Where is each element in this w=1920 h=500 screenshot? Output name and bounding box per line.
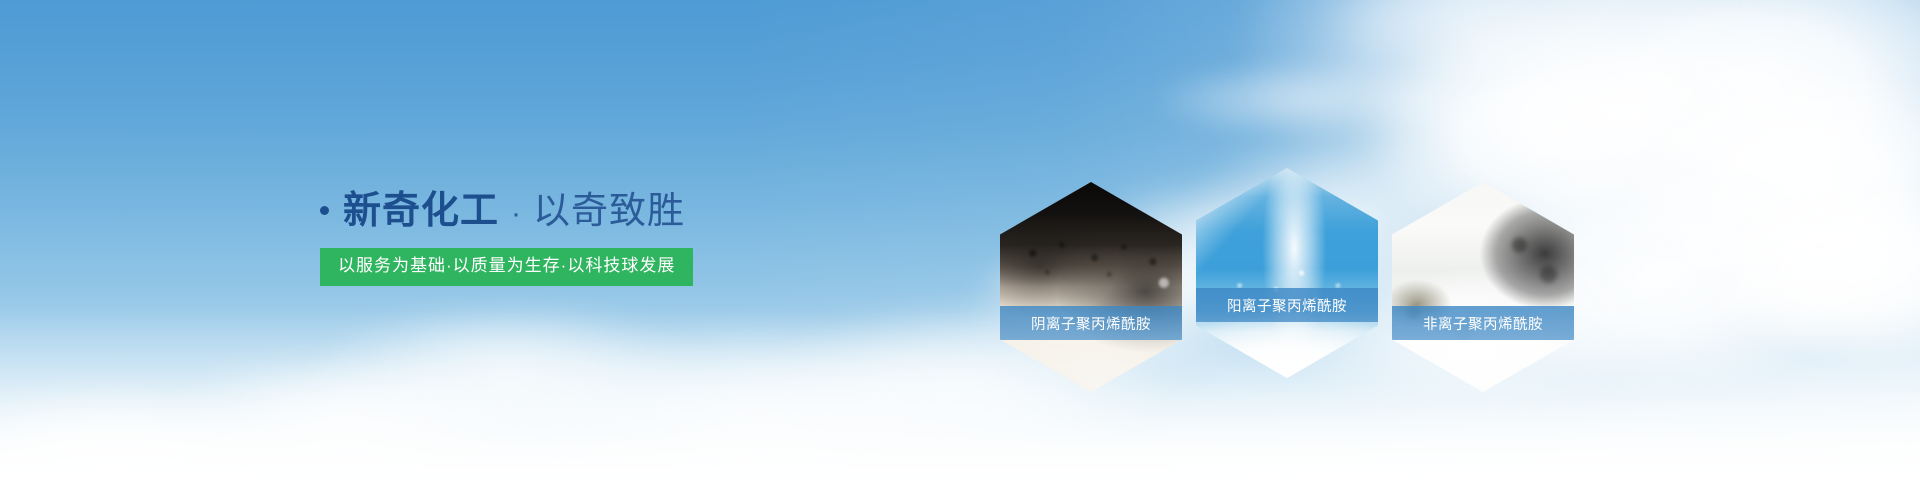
hero-banner: 阴离子聚丙烯酰胺 阳离子聚丙烯酰胺 非离子聚丙烯酰胺 新奇化工 · 以奇致胜 以…: [0, 0, 1920, 500]
headline-separator: ·: [509, 199, 523, 229]
banner-copy-block: 新奇化工 · 以奇致胜 以服务为基础·以质量为生存·以科技球发展: [320, 192, 940, 286]
bottom-fade-overlay: [0, 310, 1920, 500]
brand-name: 新奇化工: [343, 192, 499, 230]
headline-tagline: 以奇致胜: [533, 192, 685, 229]
headline: 新奇化工 · 以奇致胜: [320, 192, 940, 230]
headline-bullet-icon: [320, 206, 329, 215]
slogan-bar: 以服务为基础·以质量为生存·以科技球发展: [320, 248, 693, 286]
